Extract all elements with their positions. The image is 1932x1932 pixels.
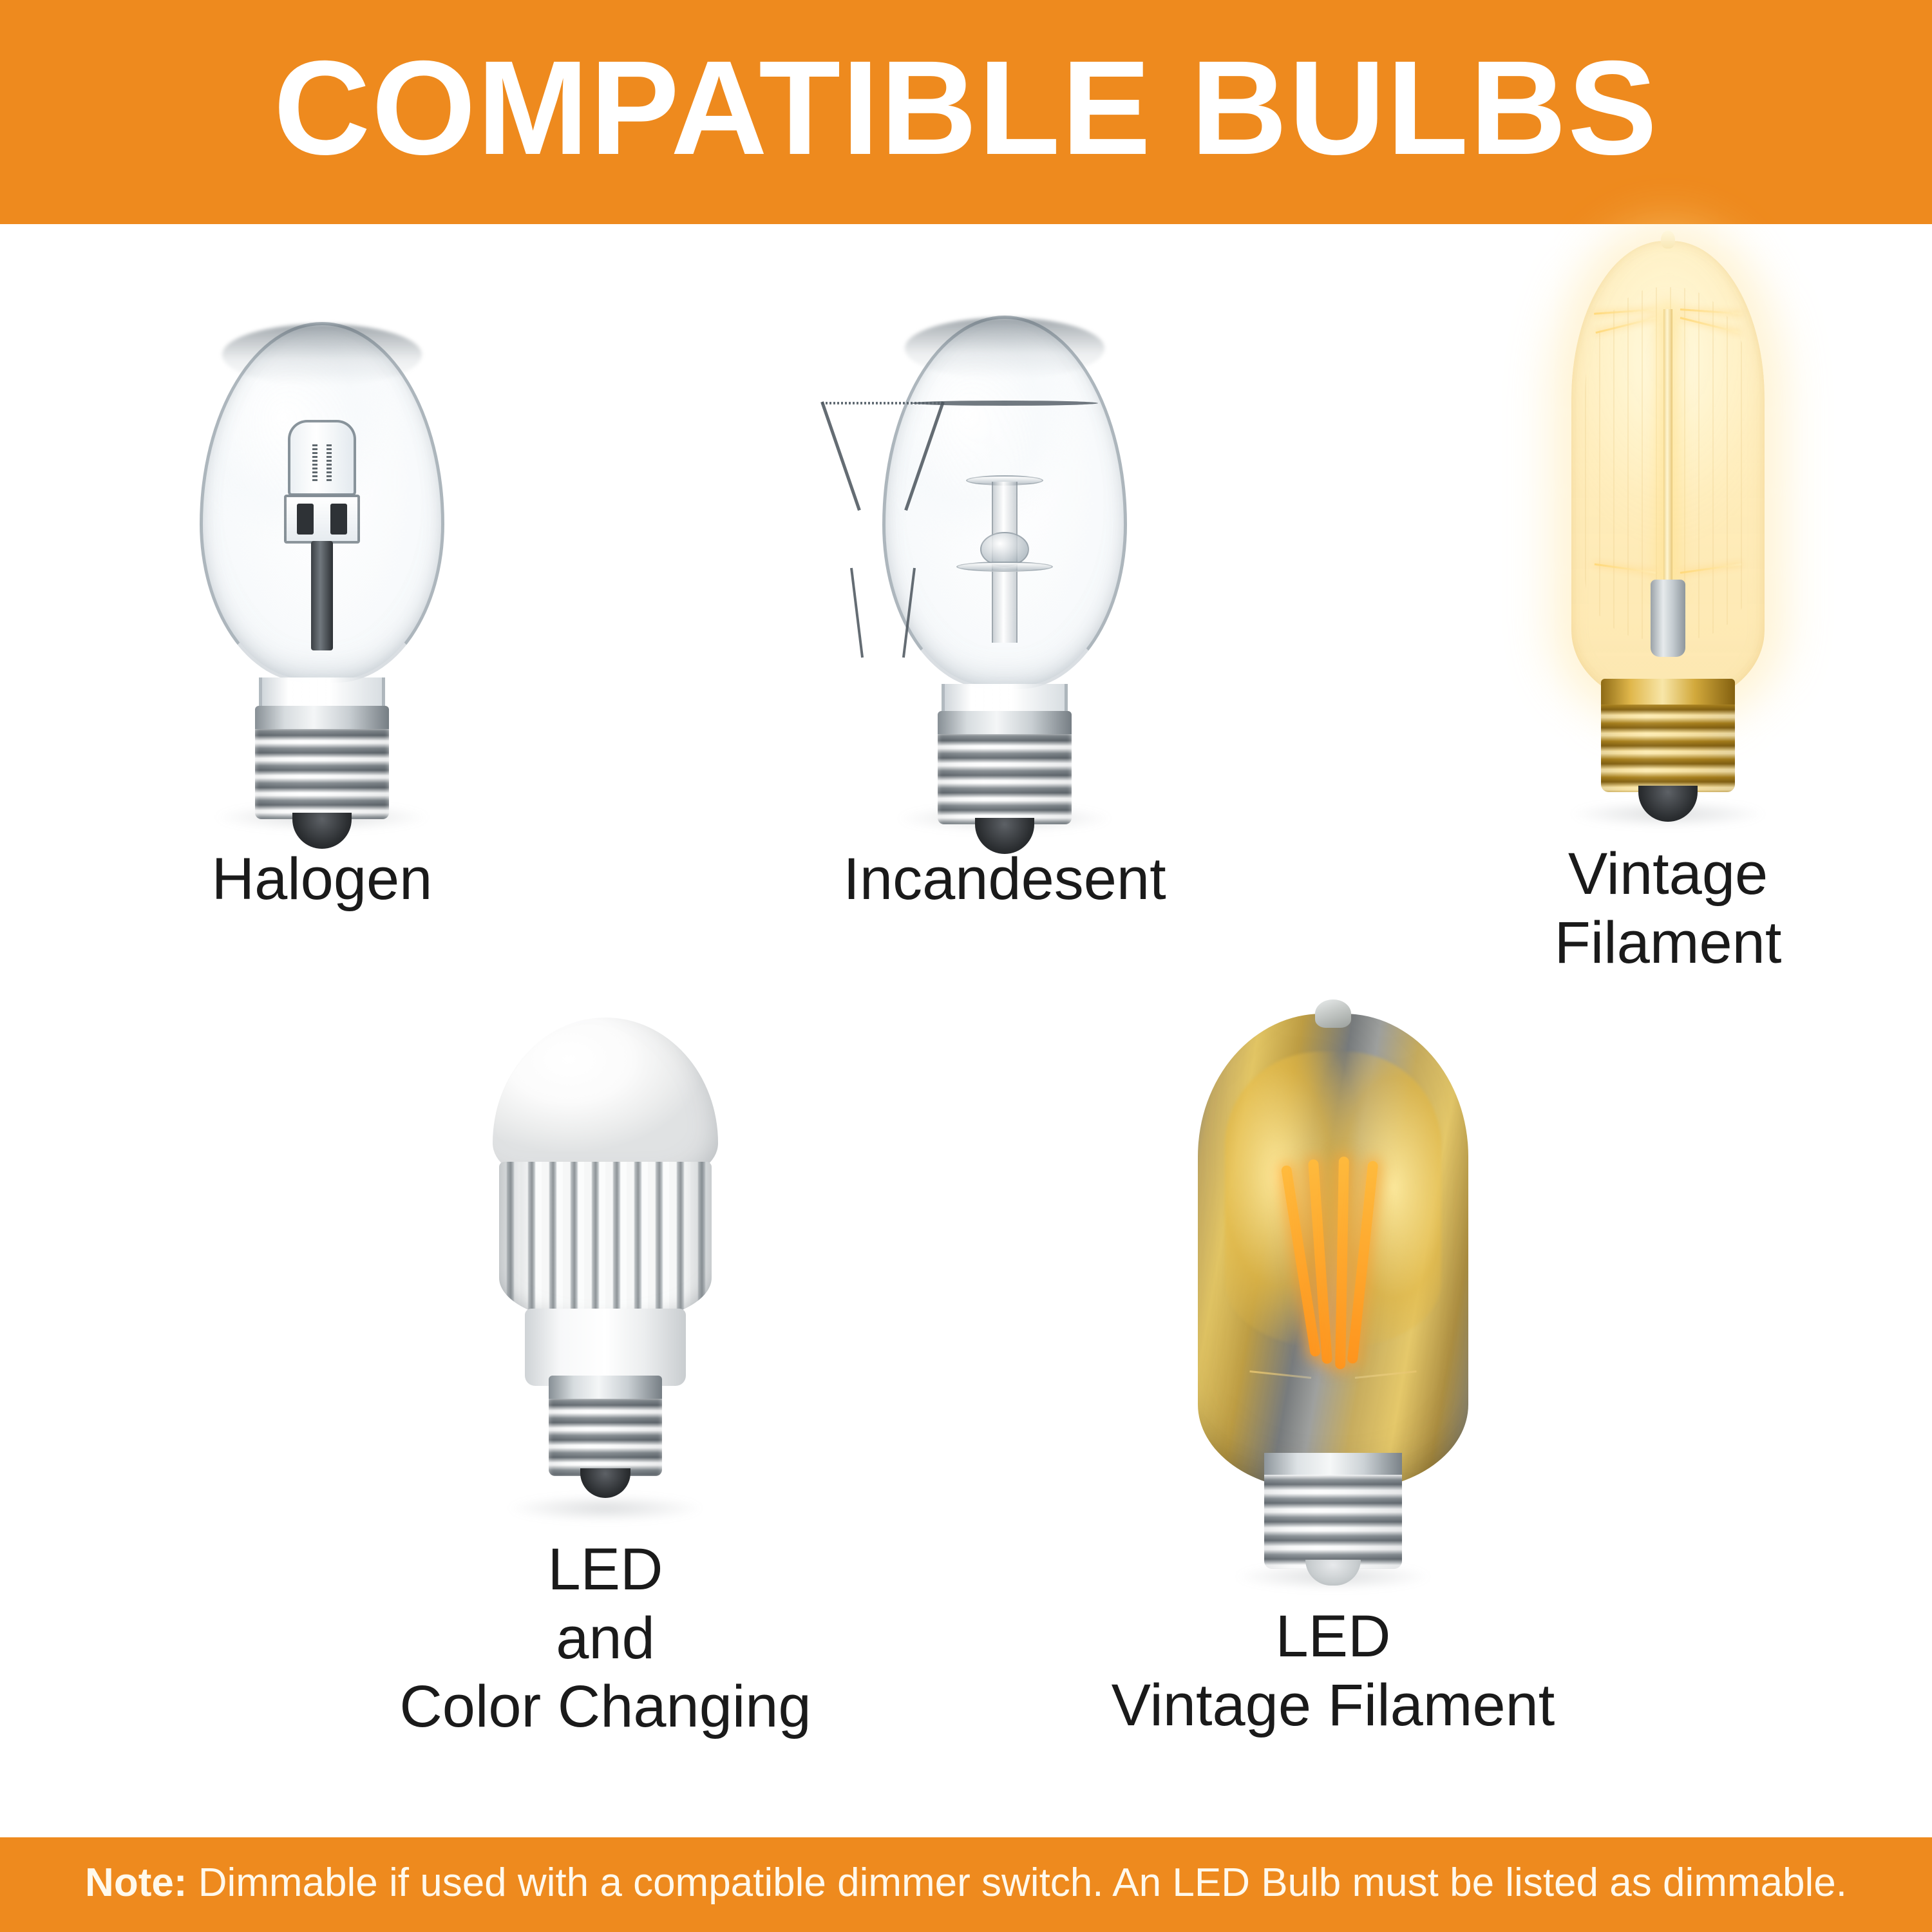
halogen-bulb-icon (77, 322, 567, 837)
header-banner: COMPATIBLE BULBS (0, 0, 1932, 224)
bulb-label-vintage-filament: Vintage Filament (1436, 840, 1900, 977)
incandescent-bulb-icon (760, 316, 1249, 844)
page-title: COMPATIBLE BULBS (274, 41, 1658, 175)
bulb-label-led-vintage-filament: LED Vintage Filament (1088, 1602, 1578, 1739)
footer-note: Note: Dimmable if used with a compatible… (85, 1863, 1847, 1903)
note-text: Dimmable if used with a compatible dimme… (187, 1861, 1846, 1905)
bulb-label-halogen: Halogen (77, 845, 567, 914)
bulb-card-led-vintage-filament: LED Vintage Filament (1088, 998, 1578, 1591)
vintage-filament-bulb-icon (1436, 232, 1900, 831)
bulb-label-incandescent: Incandesent (760, 845, 1249, 914)
bulb-label-led-color-changing: LED and Color Changing (361, 1535, 850, 1741)
led-bulb-icon (361, 1018, 850, 1526)
note-label: Note: (85, 1861, 187, 1905)
bulb-card-vintage-filament: Vintage Filament (1436, 232, 1900, 831)
footer-note-banner: Note: Dimmable if used with a compatible… (0, 1837, 1932, 1932)
led-vintage-filament-bulb-icon (1088, 998, 1578, 1591)
bulb-card-halogen: Halogen (77, 322, 567, 837)
bulb-card-led-color-changing: LED and Color Changing (361, 1018, 850, 1526)
bulb-card-incandescent: Incandesent (760, 316, 1249, 844)
